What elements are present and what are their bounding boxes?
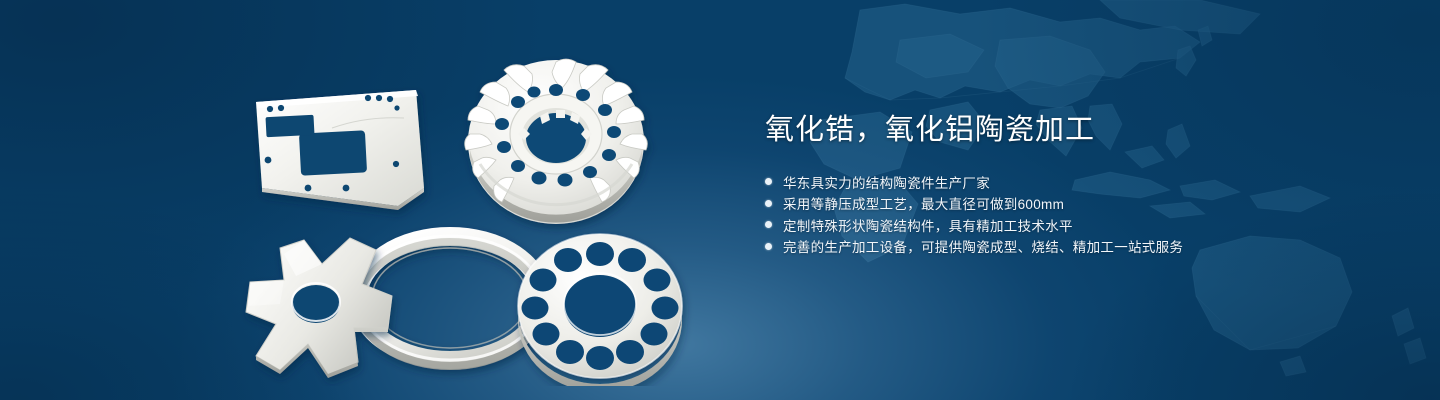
- bullet-dot-icon: [765, 200, 772, 207]
- promo-banner: 氧化锆，氧化铝陶瓷加工 华东具实力的结构陶瓷件生产厂家 采用等静压成型工艺，最大…: [0, 0, 1440, 400]
- list-item-label: 采用等静压成型工艺，最大直径可做到600mm: [783, 193, 1064, 213]
- ceramic-plate: [256, 90, 424, 210]
- banner-text-block: 氧化锆，氧化铝陶瓷加工 华东具实力的结构陶瓷件生产厂家 采用等静压成型工艺，最大…: [765, 110, 1385, 257]
- list-item-label: 华东具实力的结构陶瓷件生产厂家: [783, 172, 990, 192]
- bullet-dot-icon: [765, 221, 772, 228]
- ceramic-products-image: [228, 36, 718, 386]
- bullet-dot-icon: [765, 243, 772, 250]
- ceramic-impeller: [465, 59, 648, 224]
- bullet-dot-icon: [765, 178, 772, 185]
- page-title: 氧化锆，氧化铝陶瓷加工: [765, 110, 1385, 150]
- list-item-label: 定制特殊形状陶瓷结构件，具有精加工技术水平: [783, 215, 1073, 235]
- ceramic-cross-part: [246, 238, 392, 378]
- list-item: 采用等静压成型工艺，最大直径可做到600mm: [765, 193, 1385, 215]
- list-item-label: 完善的生产加工设备，可提供陶瓷成型、烧结、精加工一站式服务: [783, 236, 1183, 256]
- list-item: 华东具实力的结构陶瓷件生产厂家: [765, 171, 1385, 193]
- feature-list: 华东具实力的结构陶瓷件生产厂家 采用等静压成型工艺，最大直径可做到600mm 定…: [765, 171, 1385, 257]
- list-item: 完善的生产加工设备，可提供陶瓷成型、烧结、精加工一站式服务: [765, 236, 1385, 258]
- list-item: 定制特殊形状陶瓷结构件，具有精加工技术水平: [765, 214, 1385, 236]
- ceramic-perforated-disc: [518, 234, 682, 386]
